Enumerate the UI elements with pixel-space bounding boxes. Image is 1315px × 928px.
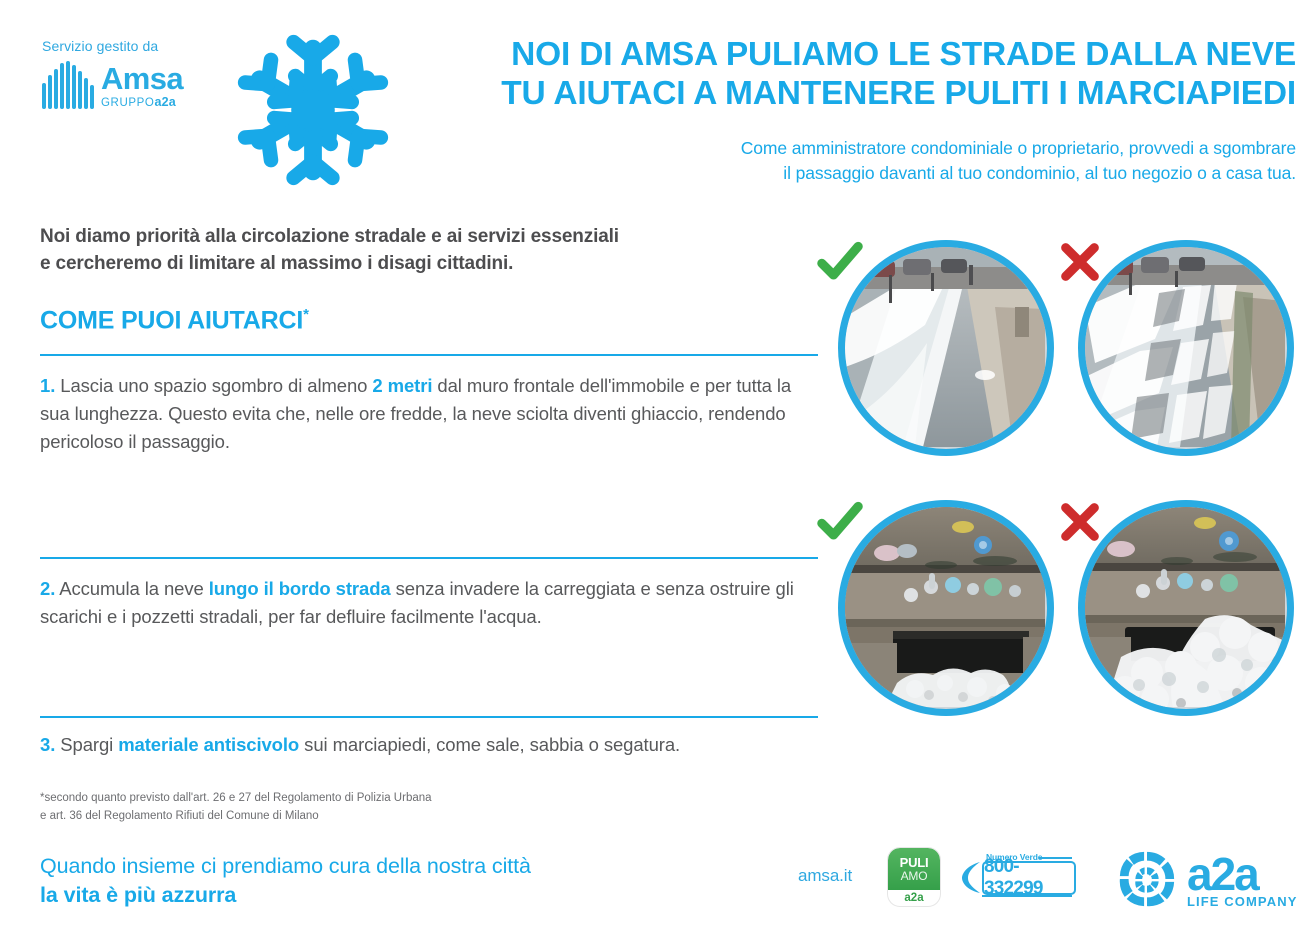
cross-icon [1054,236,1106,288]
photo-drain-blocked [1078,500,1294,716]
intro-line-1: Noi diamo priorità alla circolazione str… [40,224,820,251]
puliamo-app-icon-body: PULI AMO [888,848,940,890]
divider-2 [40,557,818,559]
subheadline-line-1: Come amministratore condominiale o propr… [430,136,1296,161]
phone-handset-icon [960,860,984,894]
step-2-before: Accumula la neve [55,578,208,599]
puliamo-brand-label: a2a [888,890,940,906]
header-text-block: NOI DI AMSA PULIAMO LE STRADE DALLA NEVE… [430,36,1296,186]
check-icon [814,236,866,288]
amsa-name: Amsa [101,63,183,94]
step-block-1: 1. Lascia uno spazio sgombro di almeno 2… [40,354,818,456]
green-number-box: 800-332299 [982,861,1076,895]
amsa-wordmark: Amsa GRUPPOa2a [101,63,183,110]
check-icon [814,496,866,548]
servizio-gestito-label: Servizio gestito da [42,38,232,54]
divider-3 [40,716,818,718]
step-block-2: 2. Accumula la neve lungo il bordo strad… [40,557,818,631]
step-block-3: 3. Spargi materiale antiscivolo sui marc… [40,716,818,759]
a2a-wordmark: a2a LIFE COMPANY [1187,851,1297,908]
a2a-circle-emblem-icon [1116,848,1178,910]
slogan-line-1: Quando insieme ci prendiamo cura della n… [40,852,531,881]
intro-block: Noi diamo priorità alla circolazione str… [40,224,820,335]
step-1-highlight: 2 metri [372,375,432,396]
step-1-number: 1. [40,375,55,396]
amsa-bars-icon [42,61,94,109]
step-3-number: 3. [40,734,55,755]
subheadline: Come amministratore condominiale o propr… [430,136,1296,187]
subheadline-line-2: il passaggio davanti al tuo condominio, … [430,161,1296,186]
slogan: Quando insieme ci prendiamo cura della n… [40,852,531,910]
photo-sidewalk-snow-covered [1078,240,1294,456]
step-2-highlight: lungo il bordo strada [209,578,391,599]
a2a-tagline: LIFE COMPANY [1187,895,1297,908]
amsa-group-label: GRUPPOa2a [101,96,183,110]
a2a-logo: a2a LIFE COMPANY [1116,848,1297,910]
step-2-text: 2. Accumula la neve lungo il bordo strad… [40,575,800,631]
headline-line-1: NOI DI AMSA PULIAMO LE STRADE DALLA NEVE [430,36,1296,75]
footnote-line-2: e art. 36 del Regolamento Rifiuti del Co… [40,808,432,826]
step-3-text: 3. Spargi materiale antiscivolo sui marc… [40,731,818,759]
green-number-value: 800-332299 [984,856,1074,900]
photo-sidewalk-cleared [838,240,1054,456]
photo-drain-clear [838,500,1054,716]
photo-sidewalk-snow-covered-image [1085,247,1287,449]
footnote-line-1: *secondo quanto previsto dall'art. 26 e … [40,790,432,808]
photo-drain-blocked-image [1085,507,1287,709]
step-3-before: Spargi [55,734,118,755]
cross-icon [1054,496,1106,548]
green-number-underline [982,895,1072,897]
a2a-name: a2a [1187,851,1297,897]
step-1-before: Lascia uno spazio sgombro di almeno [55,375,372,396]
footnote: *secondo quanto previsto dall'art. 26 e … [40,790,432,826]
step-1-text: 1. Lascia uno spazio sgombro di almeno 2… [40,372,800,456]
amsa-logo: Amsa GRUPPOa2a [42,61,232,109]
website-link[interactable]: amsa.it [798,866,852,886]
amsa-brand-block: Servizio gestito da Amsa GRUPPOa2a [42,38,232,109]
snowflake-icon [232,26,394,194]
intro-line-2: e cercheremo di limitare al massimo i di… [40,251,820,278]
puliamo-app-icon[interactable]: PULI AMO a2a [888,848,940,906]
green-number-block[interactable]: Numero Verde 800-332299 [960,852,1075,900]
slogan-line-2: la vita è più azzurra [40,881,531,910]
poster-root: Servizio gestito da Amsa GRUPPOa2a [0,0,1315,928]
photo-sidewalk-cleared-image [845,247,1047,449]
step-3-highlight: materiale antiscivolo [118,734,299,755]
puliamo-label-line-1: PULI [900,856,929,870]
divider-1 [40,354,818,356]
step-3-after: sui marciapiedi, come sale, sabbia o seg… [299,734,680,755]
headline-line-2: TU AIUTACI A MANTENERE PULITI I MARCIAPI… [430,75,1296,114]
photo-drain-clear-image [845,507,1047,709]
step-2-number: 2. [40,578,55,599]
puliamo-label-line-2: AMO [901,870,928,883]
section-heading: COME PUOI AIUTARCI* [40,306,820,335]
